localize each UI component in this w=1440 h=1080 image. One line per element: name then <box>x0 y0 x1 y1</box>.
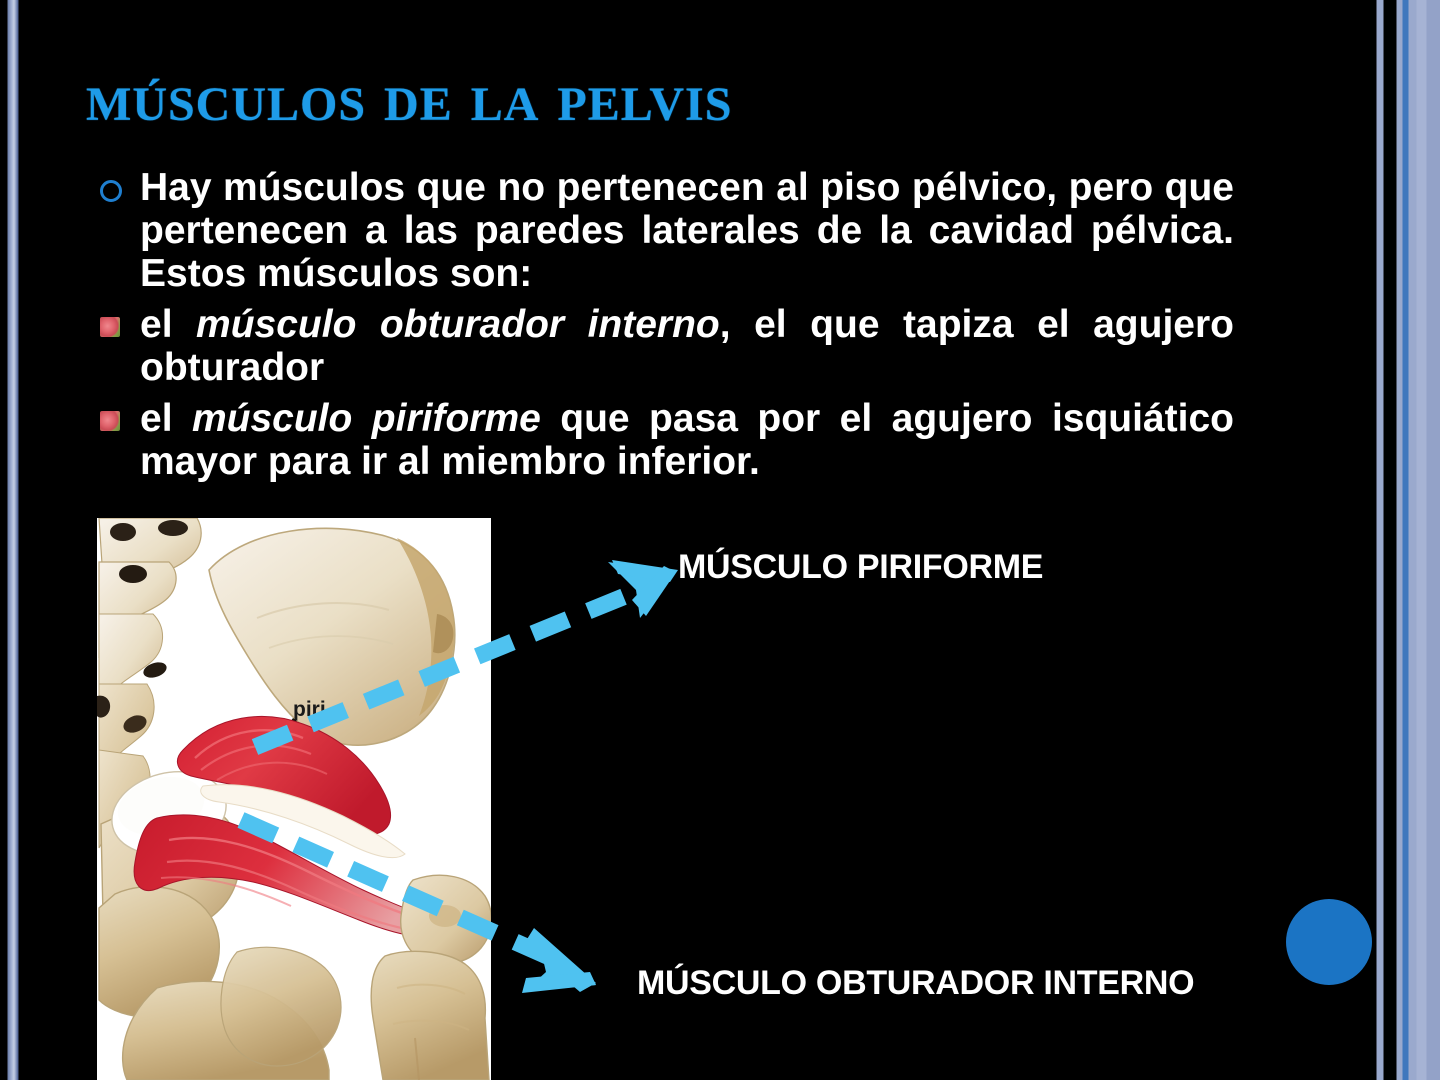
bullet-list: Hay músculos que no pertenecen al piso p… <box>92 166 1234 491</box>
bullet-0-seg-0: Hay músculos que no pertenecen al piso p… <box>140 166 1234 295</box>
page-title: MÚSCULOS DE LA PELVIS <box>86 58 732 136</box>
list-item-text: Hay músculos que no pertenecen al piso p… <box>140 166 1234 295</box>
right-border-stripe <box>1370 0 1440 1080</box>
list-item: Hay músculos que no pertenecen al piso p… <box>92 166 1234 295</box>
bullet-1-seg-1: músculo obturador interno <box>196 303 720 346</box>
rose-bullet-icon <box>100 317 120 337</box>
pelvis-anatomy-image: piri <box>97 518 491 1080</box>
list-item: el músculo piriforme que pasa por el agu… <box>92 397 1234 483</box>
bullet-marker-cell <box>92 397 140 431</box>
slide-canvas: MÚSCULOS DE LA PELVIS Hay músculos que n… <box>0 0 1440 1080</box>
hollow-circle-bullet-icon <box>100 180 122 202</box>
bullet-marker-cell <box>92 166 140 202</box>
callout-label-piriforme: MÚSCULO PIRIFORME <box>678 548 1043 587</box>
rose-bullet-icon <box>100 411 120 431</box>
blue-circle-decoration <box>1286 899 1372 985</box>
list-item-text: el músculo piriforme que pasa por el agu… <box>140 397 1234 483</box>
bullet-marker-cell <box>92 303 140 337</box>
bullet-2-seg-0: el <box>140 397 192 440</box>
left-border-stripe <box>0 0 22 1080</box>
list-item: el músculo obturador interno, el que tap… <box>92 303 1234 389</box>
figure-embedded-label: piri <box>293 698 326 721</box>
bullet-1-seg-0: el <box>140 303 196 346</box>
bullet-2-seg-1: músculo piriforme <box>192 397 541 440</box>
list-item-text: el músculo obturador interno, el que tap… <box>140 303 1234 389</box>
callout-label-obturador: MÚSCULO OBTURADOR INTERNO <box>637 964 1194 1003</box>
